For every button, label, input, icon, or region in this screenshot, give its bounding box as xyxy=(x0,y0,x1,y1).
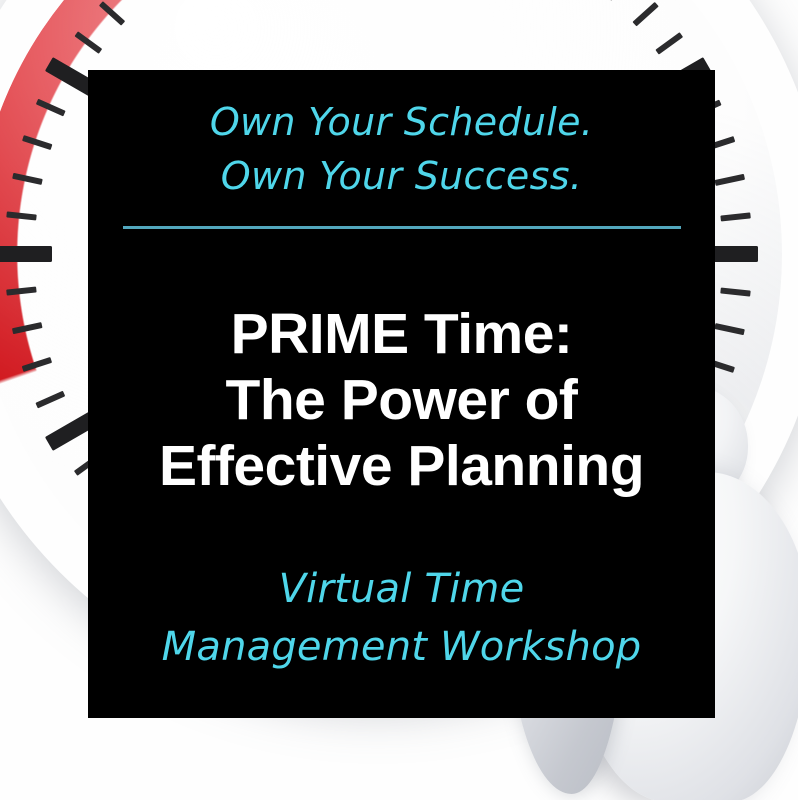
divider-rule xyxy=(123,226,681,229)
title-line-1: PRIME Time: xyxy=(159,301,644,367)
tagline-line-2: Own Your Success. xyxy=(210,150,593,204)
title-line-2: The Power of xyxy=(159,367,644,433)
subtitle: Virtual Time Management Workshop xyxy=(162,561,642,676)
tagline-line-1: Own Your Schedule. xyxy=(210,96,593,150)
page-title: PRIME Time: The Power of Effective Plann… xyxy=(159,301,644,499)
subtitle-line-1: Virtual Time xyxy=(162,561,642,619)
subtitle-line-2: Management Workshop xyxy=(162,619,642,677)
title-line-3: Effective Planning xyxy=(159,433,644,499)
text-overlay-card: Own Your Schedule. Own Your Success. PRI… xyxy=(88,70,715,718)
promo-poster: Own Your Schedule. Own Your Success. PRI… xyxy=(0,0,798,800)
tagline: Own Your Schedule. Own Your Success. xyxy=(210,96,593,204)
